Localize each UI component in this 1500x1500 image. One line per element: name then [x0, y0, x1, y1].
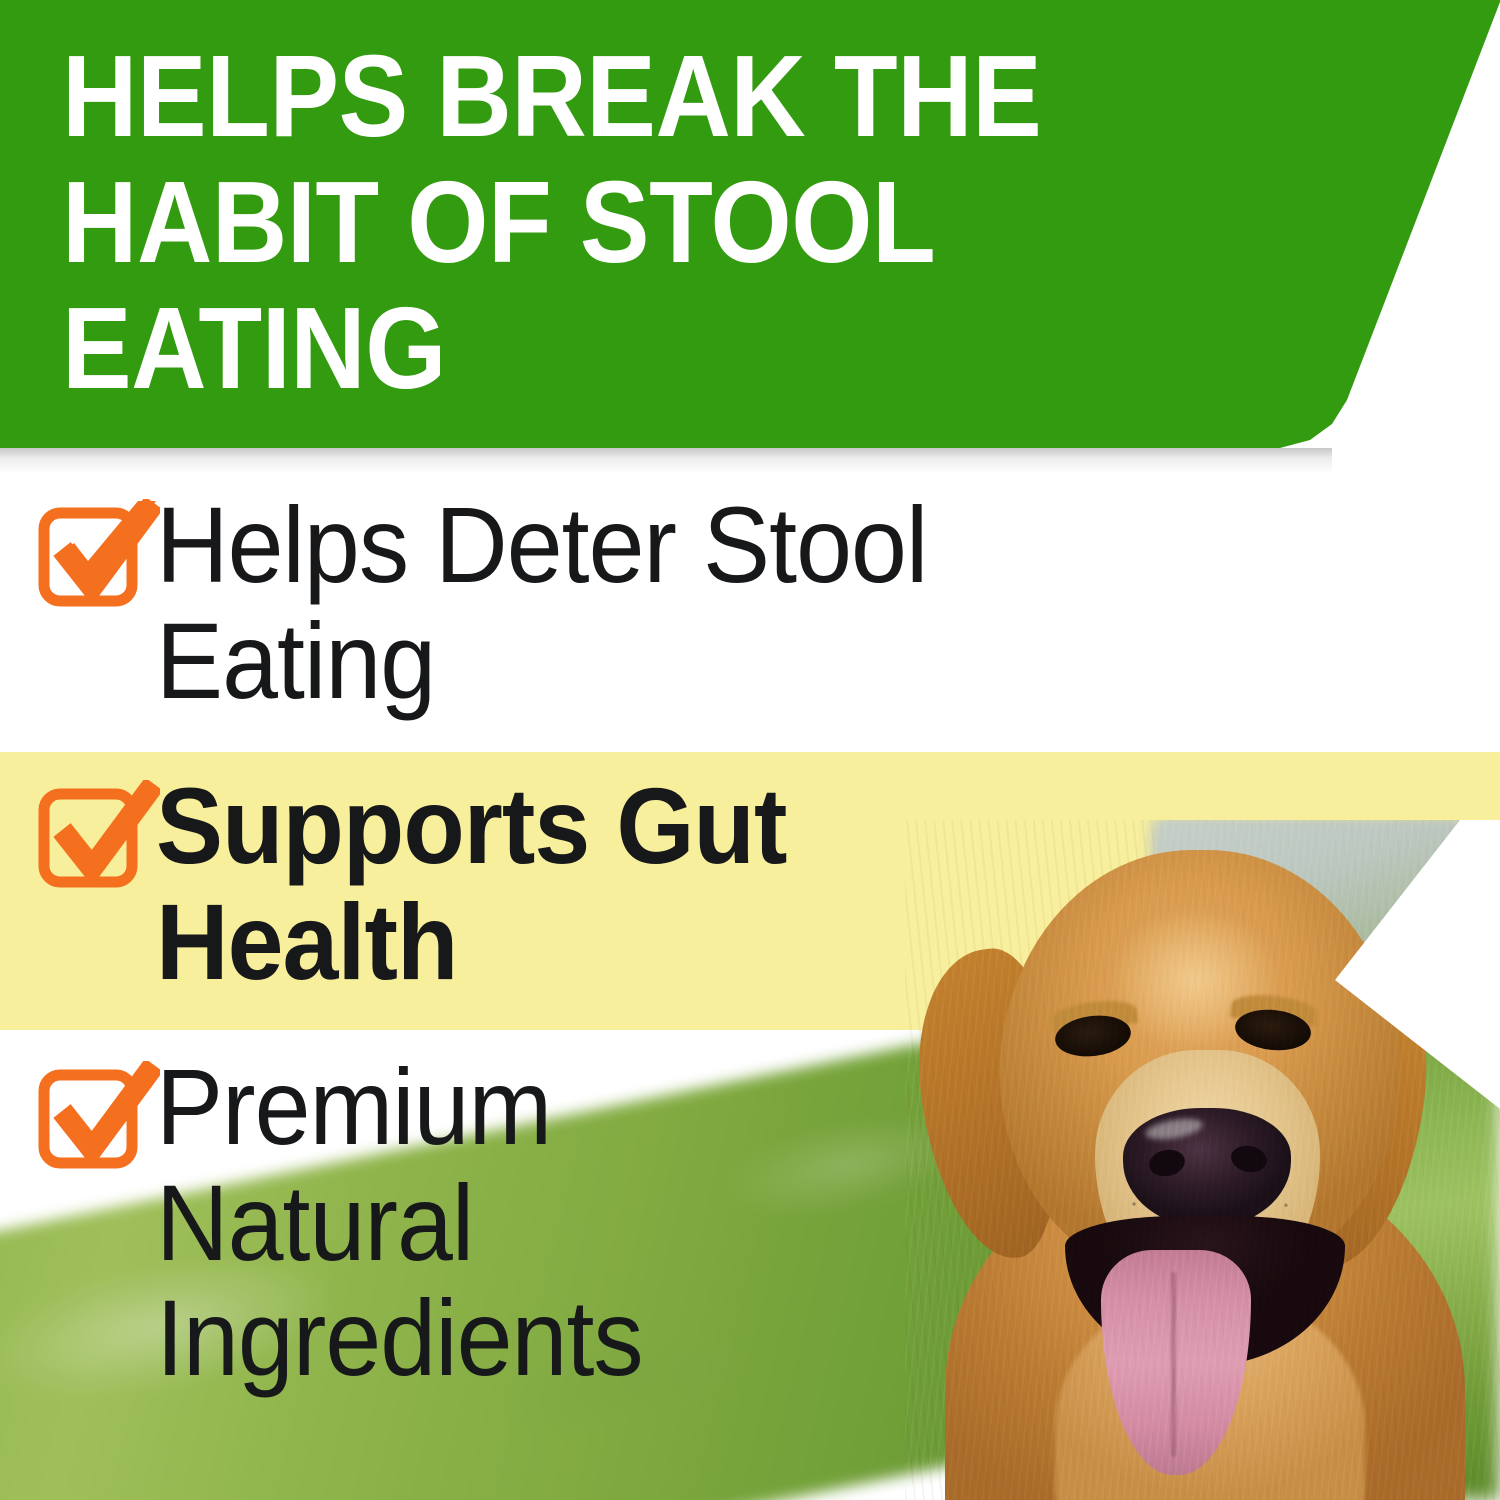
- benefit-item-1: Helps Deter Stool Eating: [38, 487, 1406, 718]
- checkbox-checked-icon: [38, 499, 160, 607]
- benefit-item-3: Premium Natural Ingredients: [38, 1049, 1036, 1396]
- checkbox-checked-icon: [38, 1061, 160, 1169]
- benefit-item-2: Supports Gut Health: [38, 768, 1136, 999]
- benefit-label-2: Supports Gut Health: [156, 768, 1067, 999]
- checkbox-checked-icon: [38, 780, 160, 888]
- benefit-label-3: Premium Natural Ingredients: [156, 1049, 974, 1396]
- headline-banner: HELPS BREAK THE HABIT OF STOOL EATING: [0, 0, 1500, 460]
- product-feature-card: HELPS BREAK THE HABIT OF STOOL EATING He…: [0, 0, 1500, 1500]
- headline-text: HELPS BREAK THE HABIT OF STOOL EATING: [62, 34, 1232, 412]
- benefit-label-1: Helps Deter Stool Eating: [156, 487, 1319, 718]
